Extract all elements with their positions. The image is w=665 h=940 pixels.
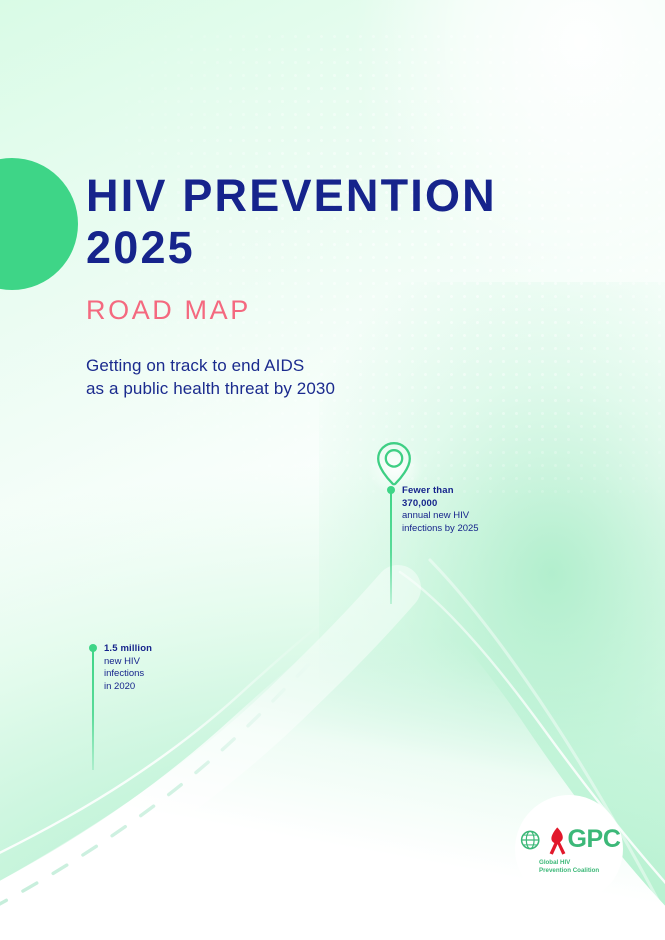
title-line-2: 2025 <box>86 222 195 273</box>
title-line-1: HIV PREVENTION <box>86 170 497 221</box>
marker-detail-2: infections by 2025 <box>402 523 552 536</box>
marker-stem <box>390 490 392 604</box>
gpc-logo-badge: GPC Global HIV Prevention Coalition <box>515 795 623 903</box>
marker-detail-1: new HIV <box>104 656 254 669</box>
marker-label: 1.5 million new HIV infections in 2020 <box>104 643 254 693</box>
page-subtitle: ROAD MAP <box>86 294 606 326</box>
tagline-line-2: as a public health threat by 2030 <box>86 379 335 398</box>
marker-detail-1: annual new HIV <box>402 510 552 523</box>
aids-ribbon-icon <box>547 824 567 856</box>
page-title: HIV PREVENTION 2025 <box>86 170 606 274</box>
marker-headline-2: 370,000 <box>402 498 552 511</box>
marker-label: Fewer than 370,000 annual new HIV infect… <box>402 485 552 535</box>
marker-detail-3: in 2020 <box>104 681 254 694</box>
logo-tagline-line-1: Global HIV <box>539 859 611 867</box>
marker-dot <box>89 644 97 652</box>
page-tagline: Getting on track to end AIDS as a public… <box>86 354 606 400</box>
logo-acronym: GPC <box>568 827 621 852</box>
marker-headline-1: Fewer than <box>402 485 552 498</box>
document-cover: HIV PREVENTION 2025 ROAD MAP Getting on … <box>0 0 665 940</box>
logo-tagline: Global HIV Prevention Coalition <box>539 859 611 875</box>
globe-icon <box>516 825 546 855</box>
logo-tagline-line-2: Prevention Coalition <box>539 867 611 875</box>
marker-detail-2: infections <box>104 668 254 681</box>
marker-headline: 1.5 million <box>104 643 254 656</box>
marker-dot <box>387 486 395 494</box>
logo-lockup: GPC <box>516 824 621 856</box>
map-pin-icon <box>374 440 414 488</box>
marker-stem <box>92 648 94 770</box>
title-block: HIV PREVENTION 2025 ROAD MAP Getting on … <box>86 170 606 400</box>
tagline-line-1: Getting on track to end AIDS <box>86 356 304 375</box>
